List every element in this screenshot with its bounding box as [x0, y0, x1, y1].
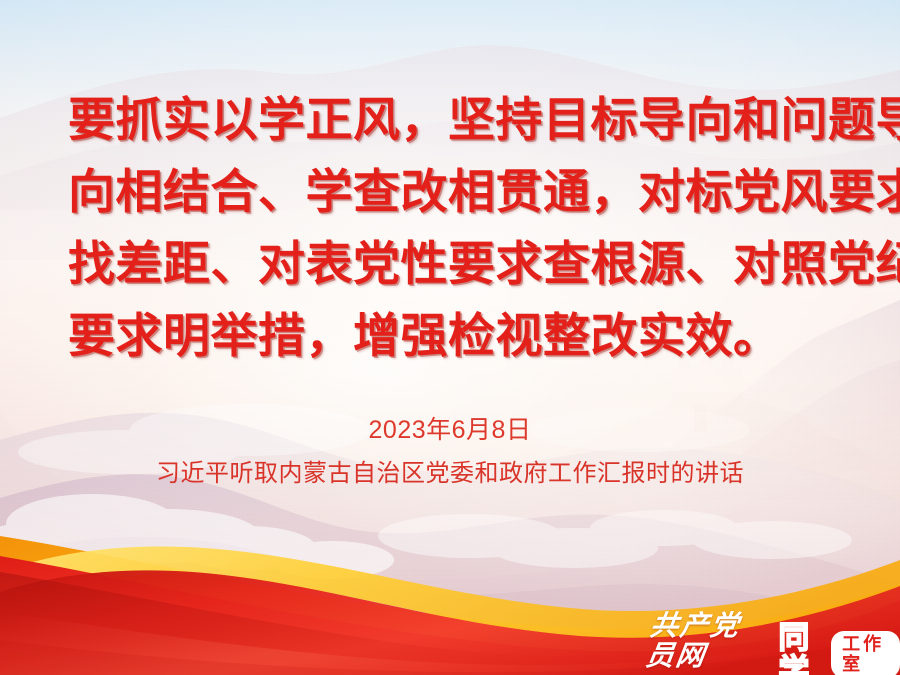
studio-badge: 工作室: [831, 631, 900, 675]
headline-quote: 要抓实以学正风，坚持目标导向和问题导 向相结合、学查改相贯通，对标党风要求 找差…: [68, 84, 858, 372]
headline-line-2: 向相结合、学查改相贯通，对标党风要求: [68, 156, 858, 228]
attribution-source: 习近平听取内蒙古自治区党委和政府工作汇报时的讲话: [0, 456, 900, 492]
attribution-block: 2023年6月8日 习近平听取内蒙古自治区党委和政府工作汇报时的讲话: [0, 412, 900, 492]
studio-name-text: 同学: [778, 621, 826, 675]
attribution-date: 2023年6月8日: [0, 412, 900, 448]
site-name-text: 共产党员网: [644, 612, 771, 672]
headline-line-1: 要抓实以学正风，坚持目标导向和问题导: [68, 84, 858, 156]
headline-line-4: 要求明举措，增强检视整改实效。: [68, 300, 858, 372]
studio-logo[interactable]: 同学 工作室: [778, 621, 900, 675]
poster-canvas: 要抓实以学正风，坚持目标导向和问题导 向相结合、学查改相贯通，对标党风要求 找差…: [0, 0, 900, 675]
site-logo[interactable]: 共产党员网 WWW.12371.CN: [648, 612, 766, 675]
logo-lockup[interactable]: 共产党员网 WWW.12371.CN 同学 工作室: [648, 612, 900, 675]
headline-line-3: 找差距、对表党性要求查根源、对照党纪: [68, 228, 858, 300]
